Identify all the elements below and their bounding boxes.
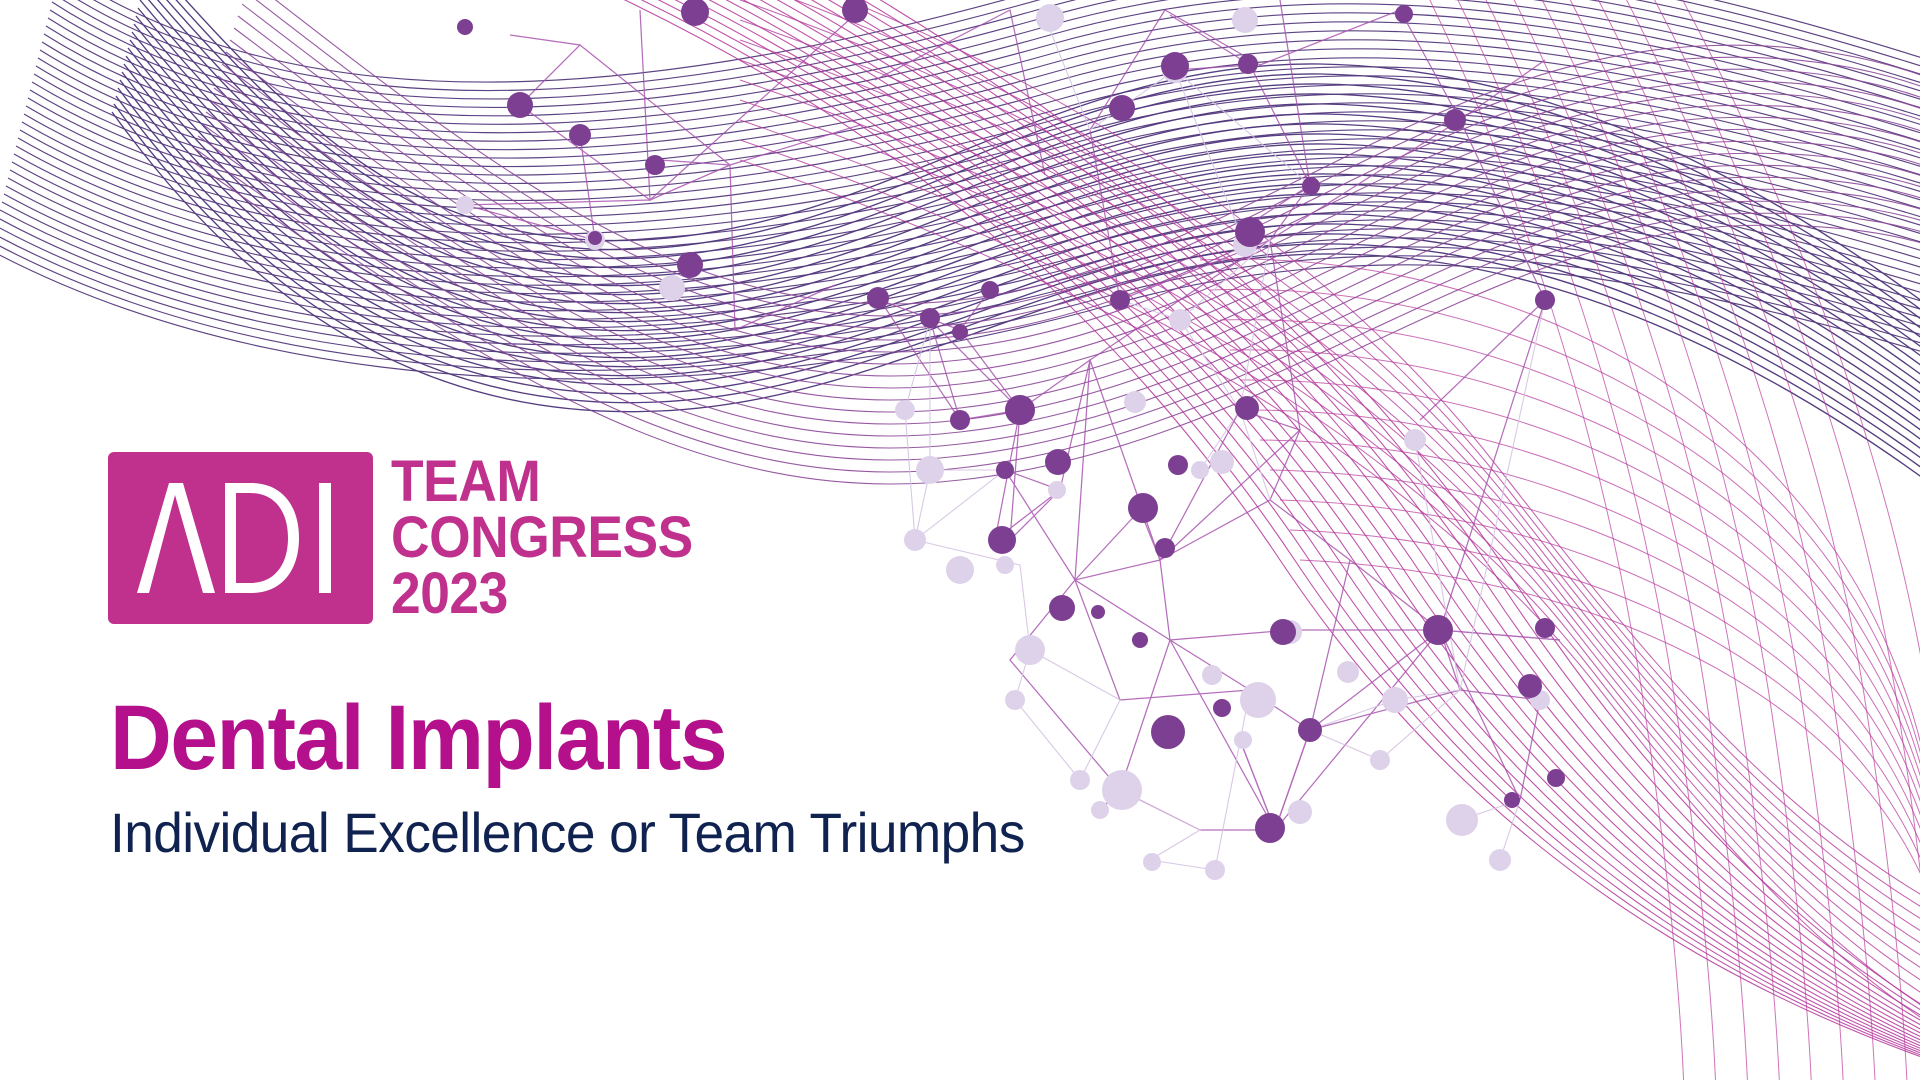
adi-badge	[108, 452, 373, 624]
headline-block: Dental Implants Individual Excellence or…	[110, 690, 1110, 864]
adi-team-congress-logo: TEAM CONGRESS 2023	[108, 452, 719, 624]
wave-bundle-ribbon	[112, 0, 1920, 520]
congress-wordmark: TEAM CONGRESS 2023	[391, 452, 719, 622]
adi-letters	[133, 479, 348, 597]
page-title: Dental Implants	[110, 690, 1040, 786]
wave-bundle-arcs	[740, 0, 1920, 1080]
congress-line-year: 2023	[391, 566, 693, 622]
congress-line-congress: CONGRESS	[391, 510, 693, 566]
wave-bundle-right-edge	[1420, 0, 1920, 1080]
congress-line-team: TEAM	[391, 454, 693, 510]
slide-canvas: TEAM CONGRESS 2023 Dental Implants Indiv…	[0, 0, 1920, 1080]
wave-bundle-magenta	[560, 0, 1920, 1080]
page-subtitle: Individual Excellence or Team Triumphs	[110, 802, 1060, 864]
wave-bundle-lower-fan	[1200, 259, 1920, 1060]
wave-bundle-dark	[0, 0, 1920, 385]
wave-bundle-mid	[190, 0, 1920, 484]
